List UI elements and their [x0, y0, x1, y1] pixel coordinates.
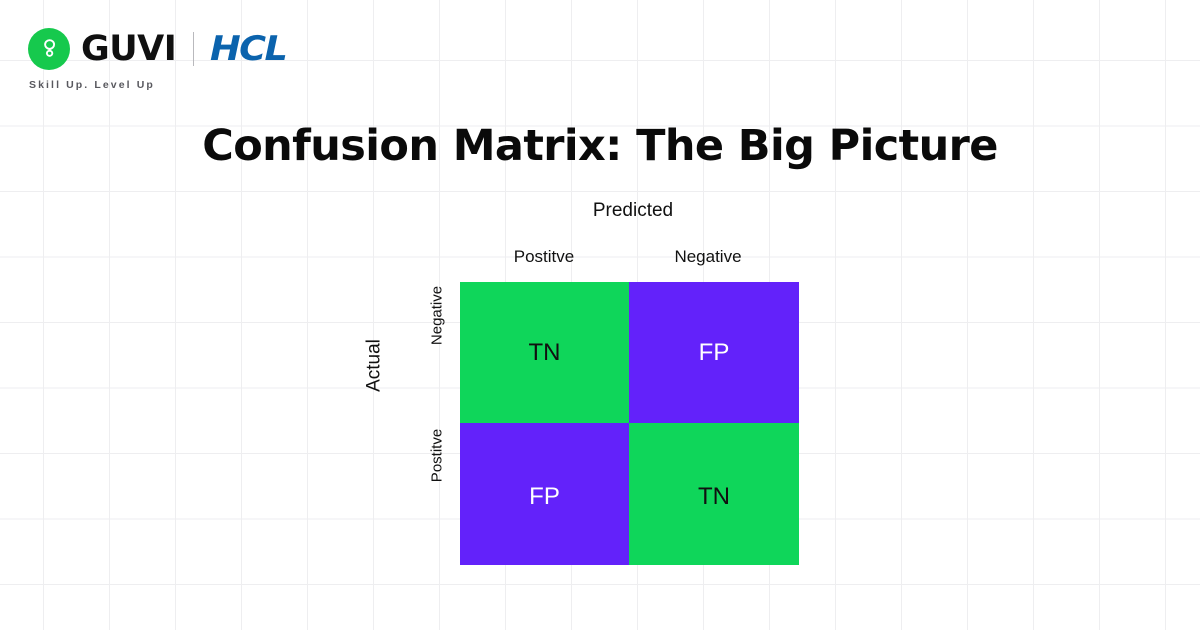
page-title: Confusion Matrix: The Big Picture	[0, 123, 1200, 170]
matrix-cell-tn-bottom-right[interactable]: TN	[629, 423, 799, 565]
partner-logo-hcl: HCL	[210, 32, 286, 66]
row-label-positive: Postitve	[430, 411, 445, 501]
brand-tagline: Skill Up. Level Up	[29, 79, 155, 91]
brand-lockup: GUVI HCL	[28, 28, 281, 70]
axis-label-predicted: Predicted	[533, 201, 733, 220]
confusion-matrix: TN FP FP TN	[460, 282, 799, 565]
column-label-negative: Negative	[618, 248, 798, 265]
brand-divider	[193, 32, 194, 66]
matrix-cell-tn-top-left[interactable]: TN	[460, 282, 629, 423]
slide-canvas: GUVI HCL Skill Up. Level Up Confusion Ma…	[0, 0, 1200, 630]
matrix-cell-fp-bottom-left[interactable]: FP	[460, 423, 629, 565]
axis-label-actual: Actual	[365, 333, 384, 399]
row-label-negative: Negative	[430, 271, 445, 361]
column-label-positive: Postitve	[454, 248, 634, 265]
matrix-cell-fp-top-right[interactable]: FP	[629, 282, 799, 423]
brand-name: GUVI	[81, 32, 176, 67]
guvi-circle-g-icon	[28, 28, 70, 70]
